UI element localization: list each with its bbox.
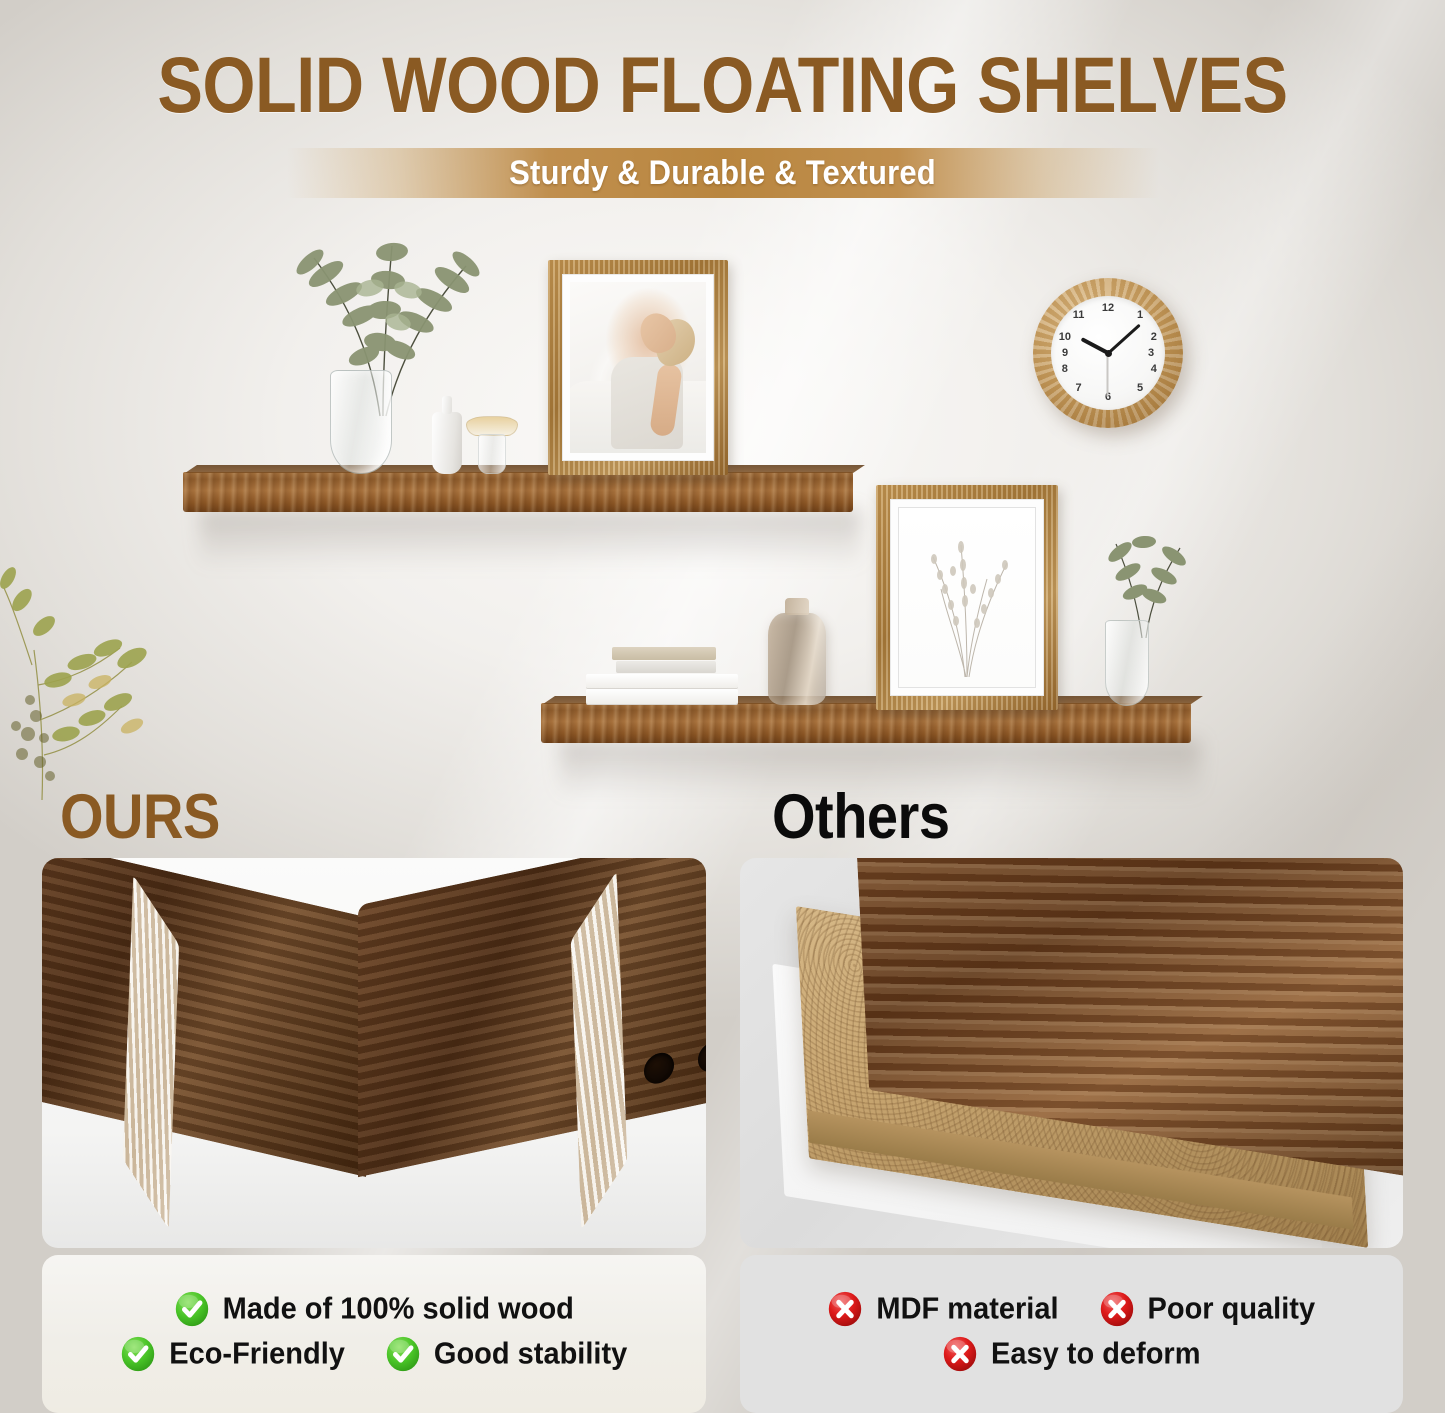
feature-item-poor-quality: Poor quality xyxy=(1099,1289,1316,1327)
slim-glass-vase xyxy=(1105,620,1149,706)
solid-wood-plank-left xyxy=(42,858,366,1177)
feature-label: Poor quality xyxy=(1148,1291,1316,1326)
check-icon xyxy=(120,1334,156,1372)
feature-label: Easy to deform xyxy=(991,1336,1201,1371)
solid-wood-plank-right xyxy=(358,858,706,1177)
clock-number-10: 10 xyxy=(1058,332,1072,343)
pedestal-stem xyxy=(478,434,506,474)
feature-item-easy-to-deform: Easy to deform xyxy=(942,1334,1201,1372)
comparison-labels: OURS Others xyxy=(0,780,1445,860)
clock-number-11: 11 xyxy=(1072,310,1086,321)
clock-number-9: 9 xyxy=(1058,348,1072,359)
others-feature-row-2: Easy to deform xyxy=(756,1336,1388,1372)
mounting-hole xyxy=(644,1050,674,1086)
feature-item-mdf-material: MDF material xyxy=(827,1289,1058,1327)
feature-label: Good stability xyxy=(434,1336,627,1371)
feature-item-eco-friendly: Eco-Friendly xyxy=(120,1334,345,1372)
page-title: SOLID WOOD FLOATING SHELVES xyxy=(0,40,1445,131)
clock-number-4: 4 xyxy=(1147,364,1161,375)
glass-pedestal-bowl xyxy=(466,416,518,474)
hero-scene: 12 1 2 3 4 5 6 7 8 9 10 11 xyxy=(0,200,1445,860)
white-ceramic-vase xyxy=(432,412,462,474)
others-feature-row-1: MDF material Poor quality xyxy=(756,1291,1388,1327)
ours-photo xyxy=(42,858,706,1248)
feature-item-solid-wood: Made of 100% solid wood xyxy=(174,1289,574,1327)
cross-icon xyxy=(942,1334,978,1372)
clock-minute-hand xyxy=(1107,324,1140,354)
clock-number-12: 12 xyxy=(1101,303,1115,314)
clock-number-5: 5 xyxy=(1133,383,1147,394)
frame-mat-botanical xyxy=(890,499,1044,696)
book-stack xyxy=(586,646,738,704)
label-others: Others xyxy=(772,780,950,853)
label-ours: OURS xyxy=(60,780,220,853)
mounting-hole xyxy=(698,1039,706,1075)
clock-number-1: 1 xyxy=(1133,310,1147,321)
feature-label: MDF material xyxy=(876,1291,1058,1326)
subtitle-text: Sturdy & Durable & Textured xyxy=(509,153,936,193)
panel-others: MDF material Poor quality xyxy=(740,858,1404,1413)
ours-feature-row-2: Eco-Friendly Good stability xyxy=(58,1336,690,1372)
subtitle-banner: Sturdy & Durable & Textured xyxy=(287,148,1159,198)
comparison-section: Made of 100% solid wood Eco-Friendly xyxy=(0,858,1445,1413)
panel-ours: Made of 100% solid wood Eco-Friendly xyxy=(42,858,706,1413)
frame-mat xyxy=(562,274,714,461)
frame-photo-botanical xyxy=(898,507,1036,688)
infographic-page: SOLID WOOD FLOATING SHELVES Sturdy & Dur… xyxy=(0,0,1445,1413)
others-photo-canvas xyxy=(740,858,1404,1248)
book-grey xyxy=(616,661,716,673)
ours-feature-row-1: Made of 100% solid wood xyxy=(58,1291,690,1327)
wooden-wall-clock: 12 1 2 3 4 5 6 7 8 9 10 11 xyxy=(1033,278,1183,428)
cross-icon xyxy=(827,1289,863,1327)
clock-center-pin xyxy=(1105,350,1112,357)
clock-number-2: 2 xyxy=(1147,332,1161,343)
top-shelf-shadow xyxy=(200,510,860,568)
check-icon xyxy=(174,1289,210,1327)
others-photo xyxy=(740,858,1404,1248)
cross-icon xyxy=(1099,1289,1135,1327)
feature-label: Made of 100% solid wood xyxy=(223,1291,574,1326)
frame-photo-woman xyxy=(570,282,706,453)
clock-face: 12 1 2 3 4 5 6 7 8 9 10 11 xyxy=(1051,296,1165,410)
ours-photo-canvas xyxy=(42,858,706,1248)
pedestal-bowl-top xyxy=(466,416,518,436)
photo-frame-botanical xyxy=(876,485,1058,710)
smoky-glass-bottle xyxy=(768,613,826,705)
mounting-holes xyxy=(644,1039,706,1087)
feature-label: Eco-Friendly xyxy=(169,1336,345,1371)
header: SOLID WOOD FLOATING SHELVES Sturdy & Dur… xyxy=(0,0,1445,210)
clock-number-7: 7 xyxy=(1072,383,1086,394)
floating-shelf-bottom xyxy=(541,703,1191,743)
floating-shelf-top xyxy=(183,472,853,512)
feature-item-good-stability: Good stability xyxy=(385,1334,627,1372)
book-white-2 xyxy=(586,674,738,688)
ours-feature-list: Made of 100% solid wood Eco-Friendly xyxy=(42,1255,706,1413)
book-white-1 xyxy=(586,689,738,704)
others-feature-list: MDF material Poor quality xyxy=(740,1255,1404,1413)
glass-vase-tall xyxy=(330,370,392,474)
botanical-illustration-icon xyxy=(0,530,192,820)
check-icon xyxy=(385,1334,421,1372)
photo-frame-woman xyxy=(548,260,728,475)
clock-number-8: 8 xyxy=(1058,364,1072,375)
clock-number-3: 3 xyxy=(1144,348,1158,359)
dried-grass-print-icon xyxy=(907,527,1027,677)
book-beige xyxy=(612,647,716,660)
